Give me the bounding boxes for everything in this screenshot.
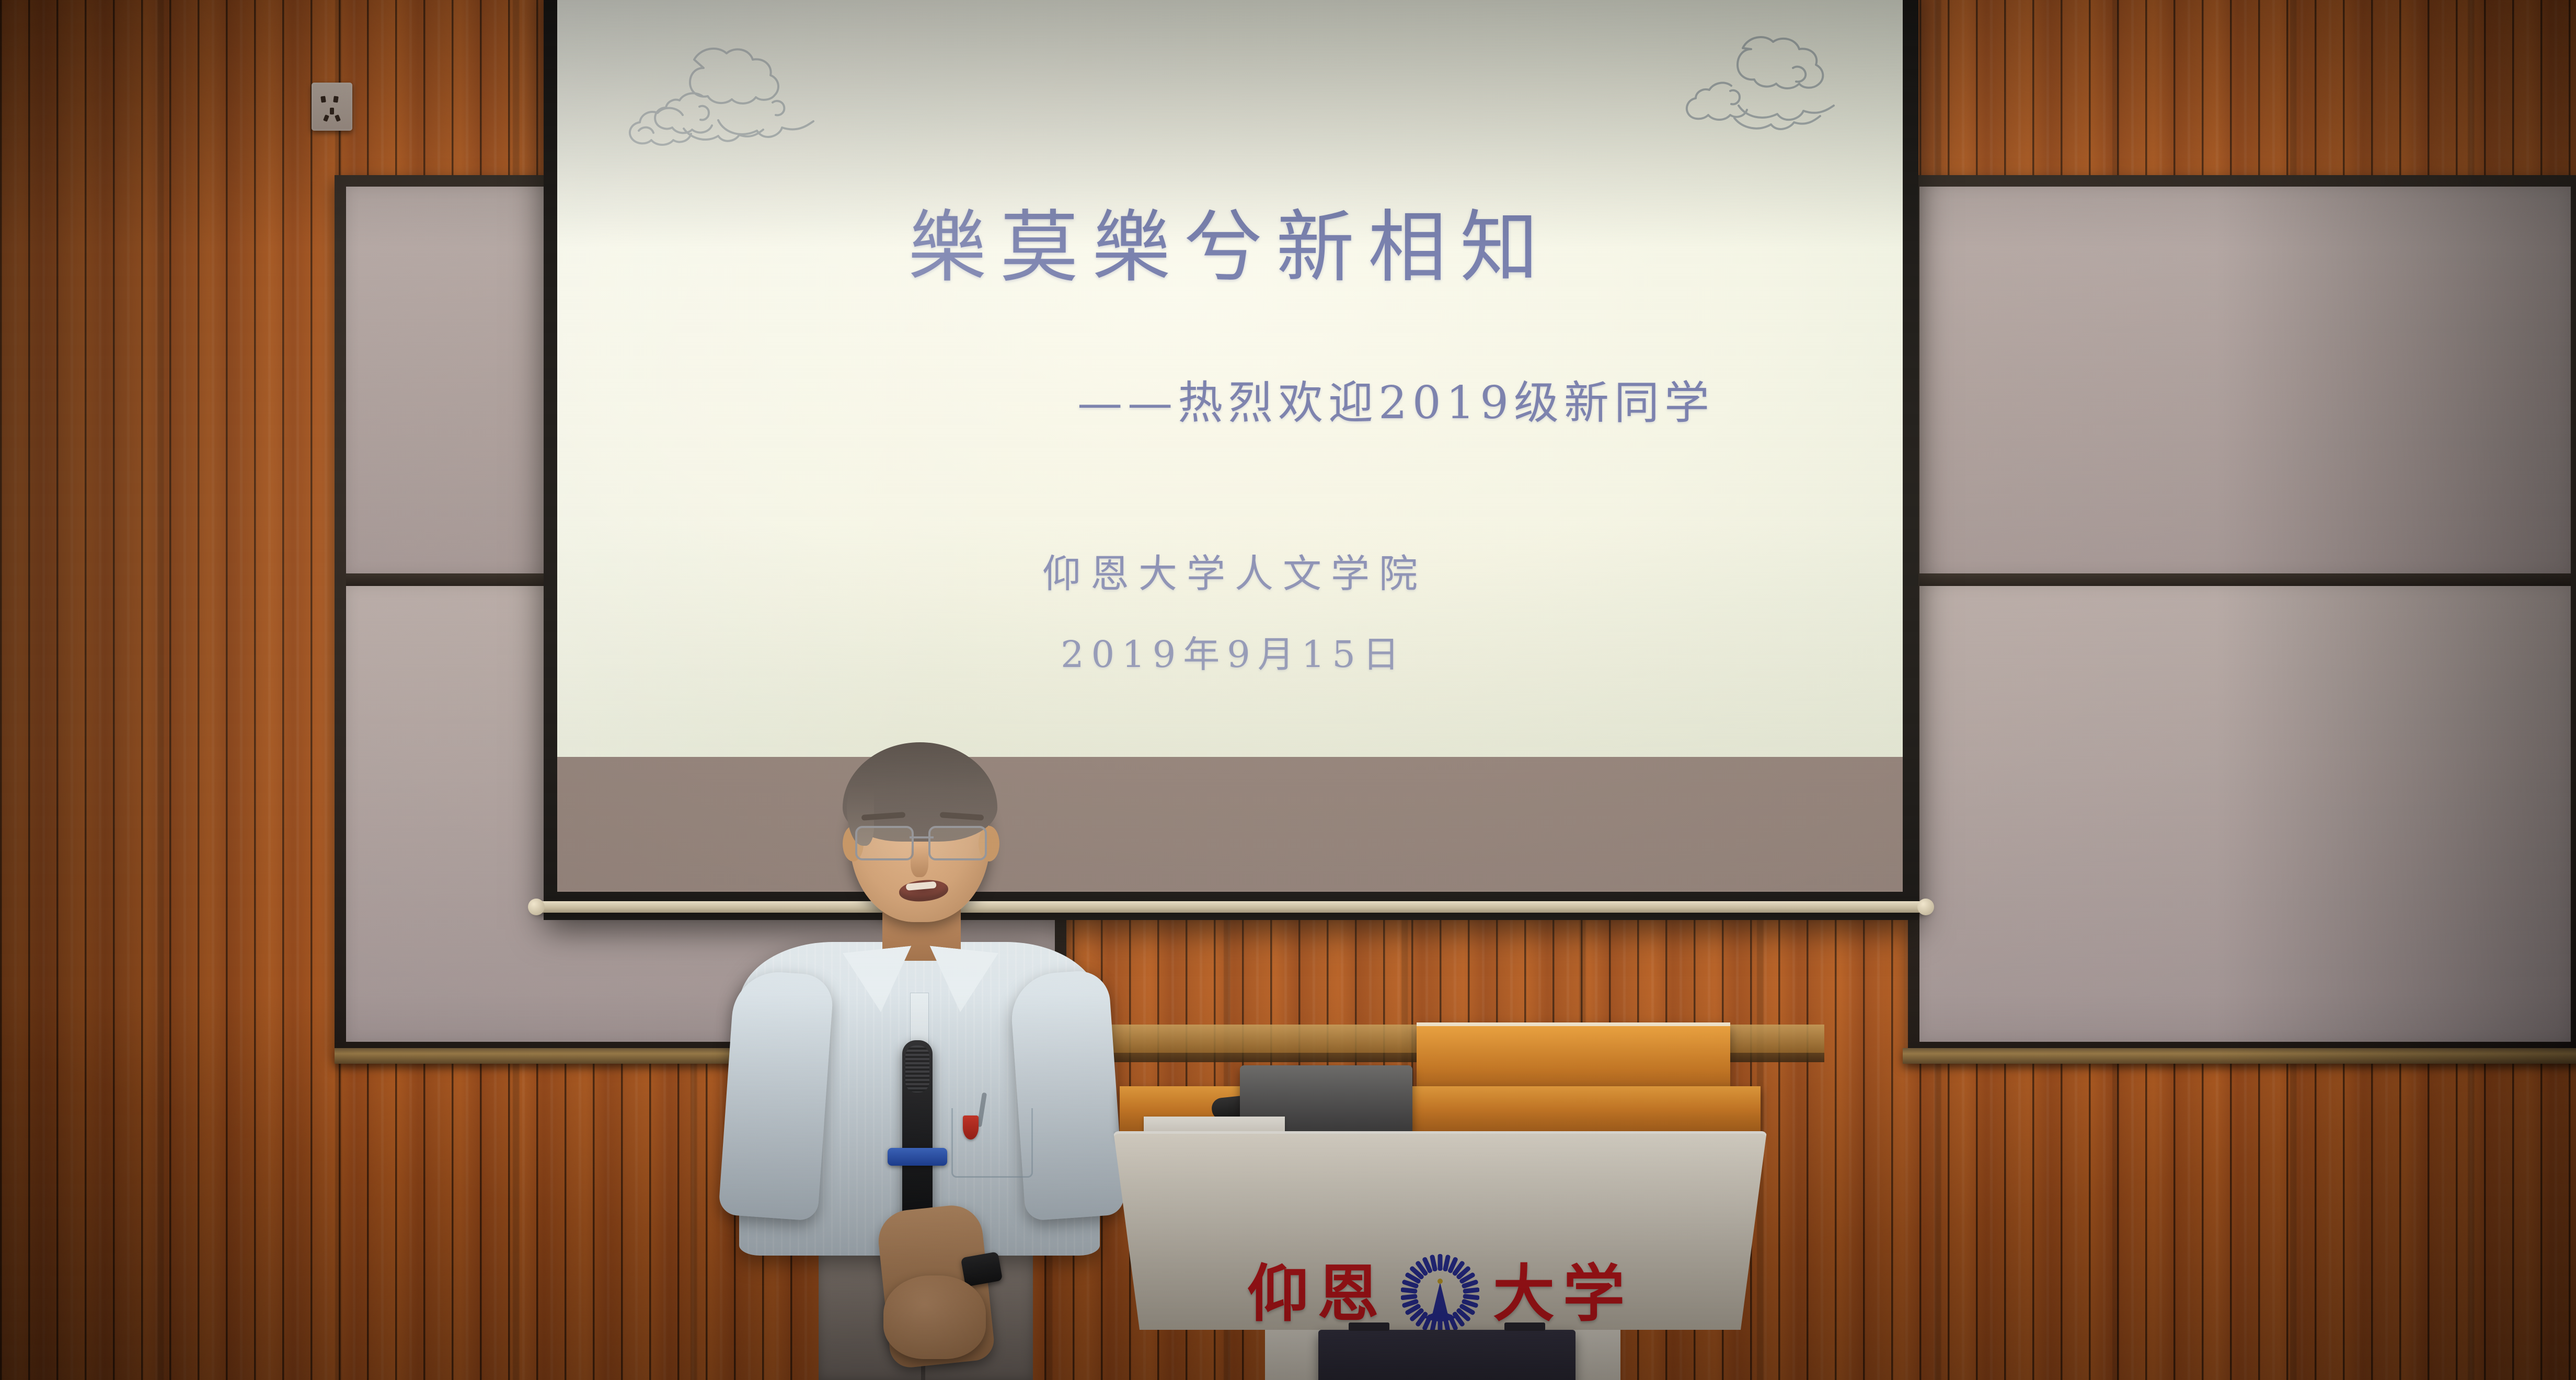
scene-root: 樂莫樂兮新相知 ——热烈欢迎2019级新同学 仰恩大学人文学院 2019年9月1… [0,0,2576,1380]
scene-vignette [0,0,2576,1380]
